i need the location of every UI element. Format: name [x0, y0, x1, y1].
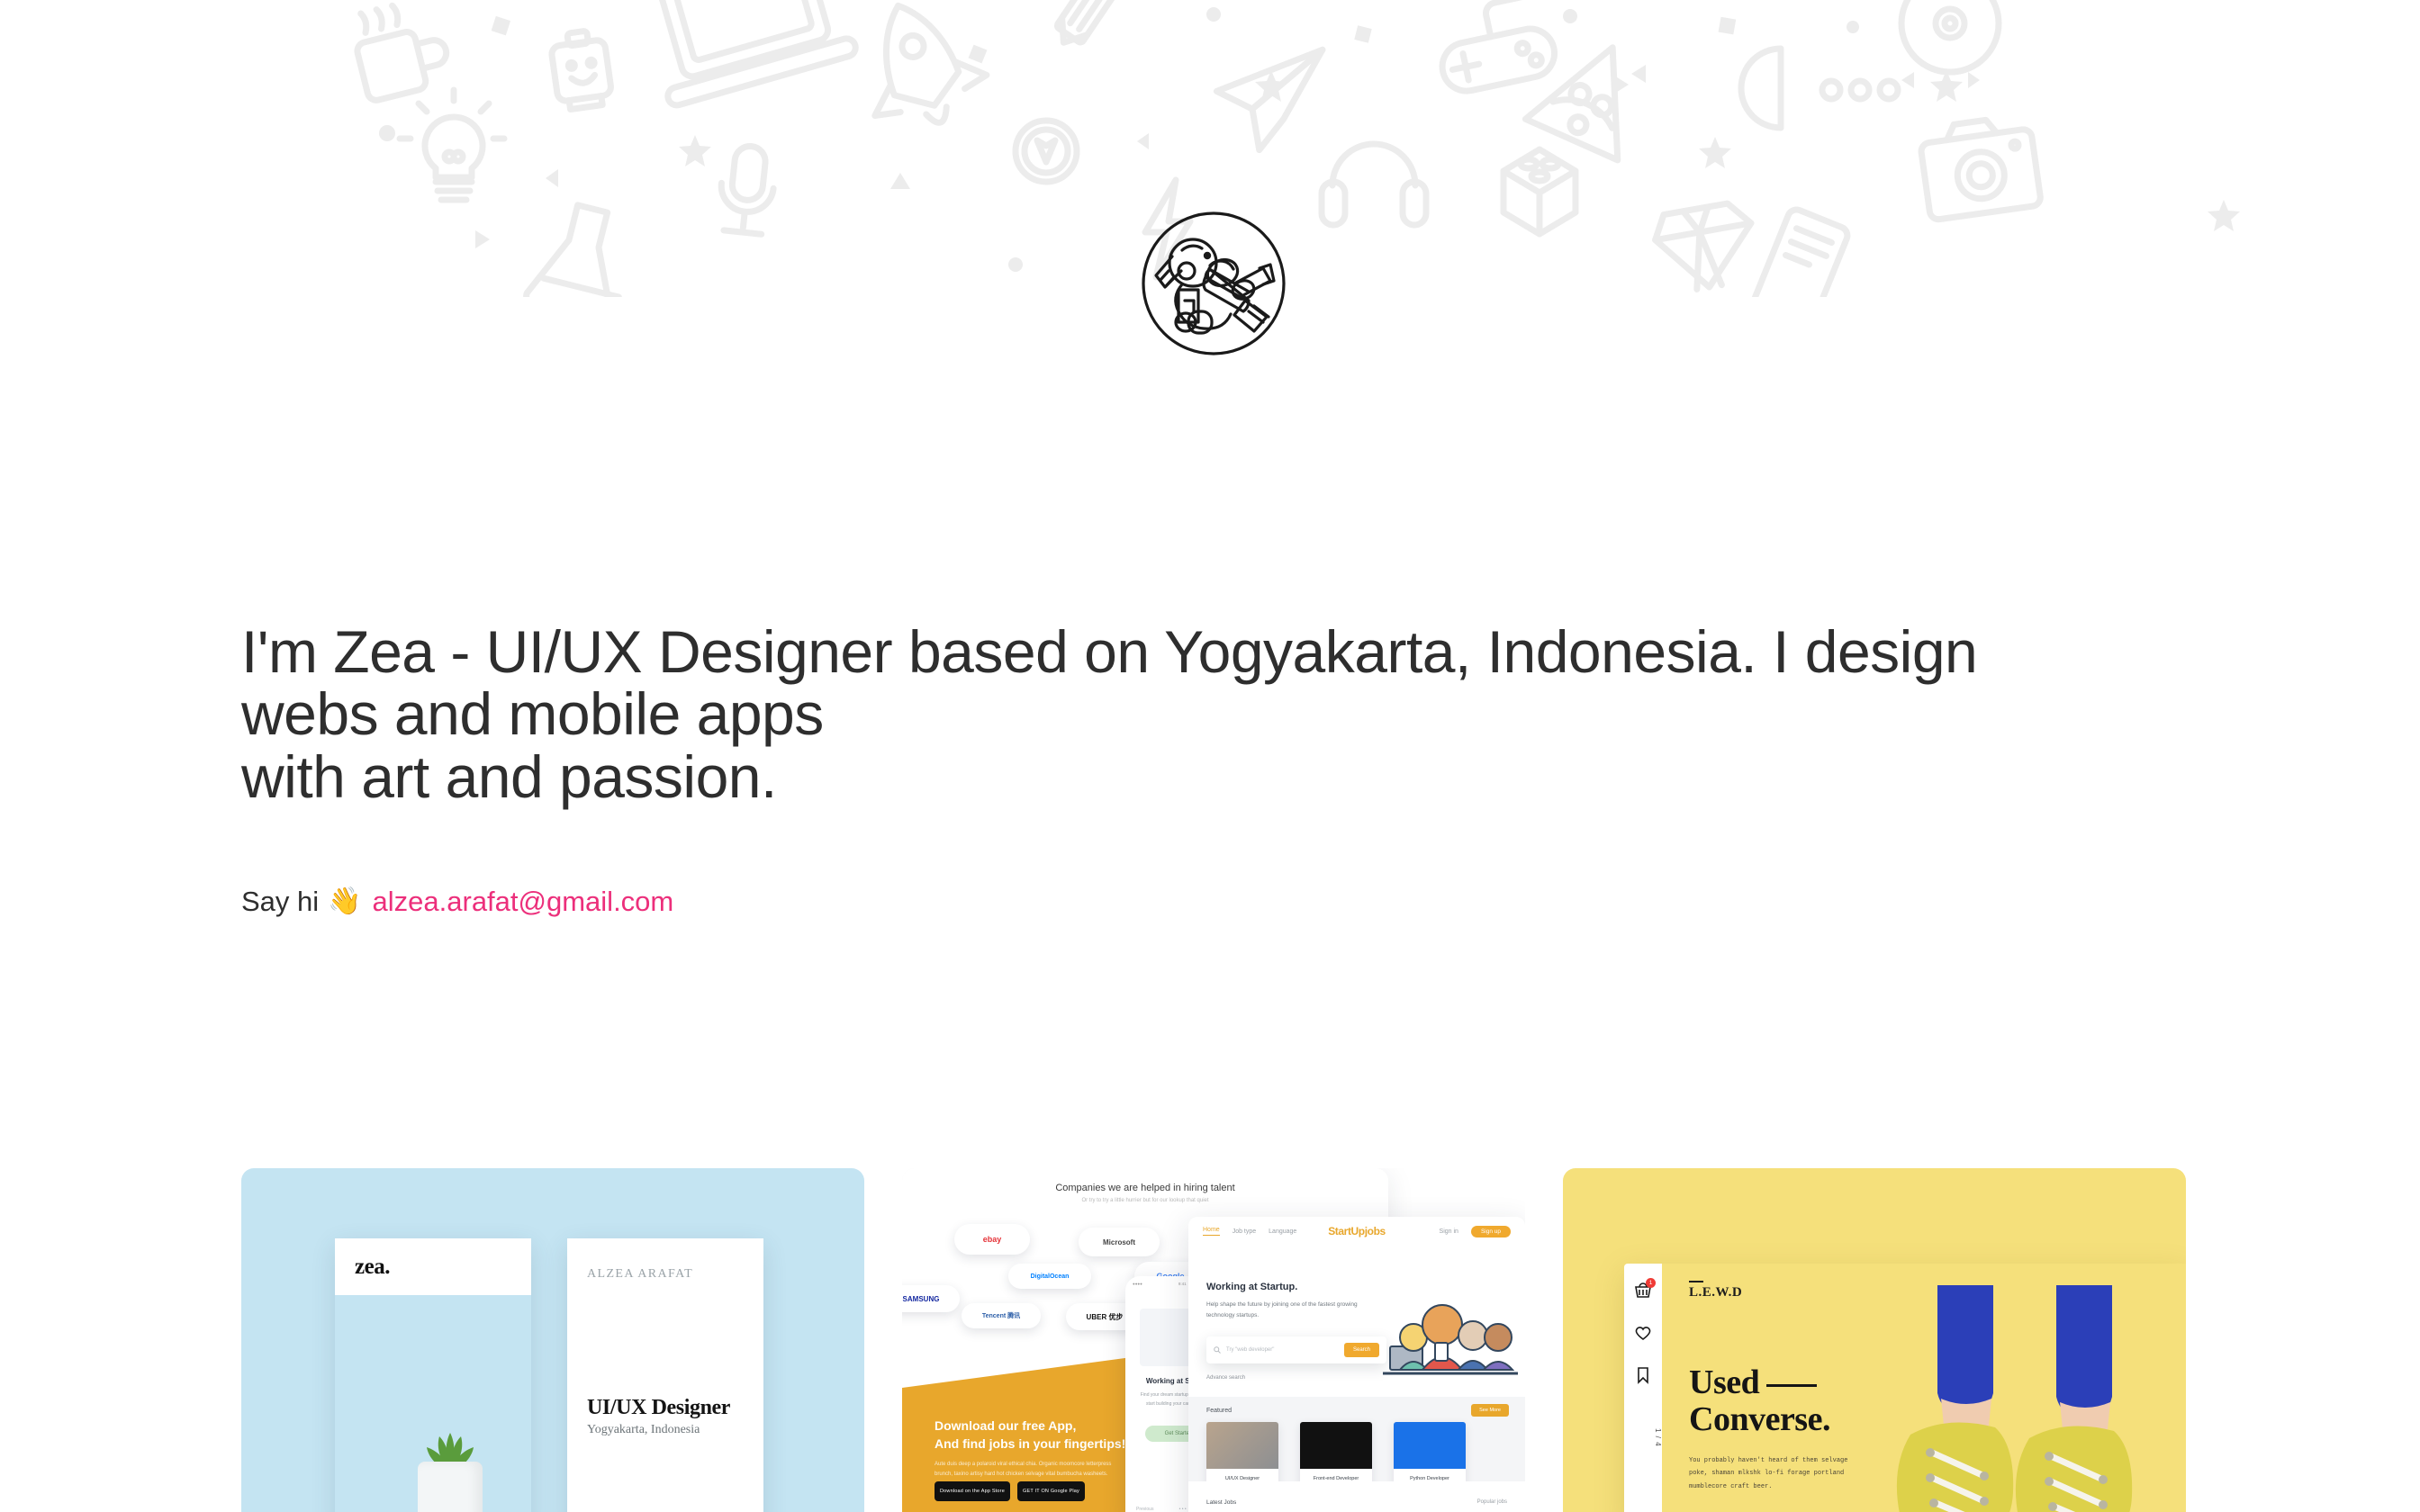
product-headline: Used Converse. — [1689, 1364, 1878, 1438]
shop-side-rail: 1 1 / 4 — [1624, 1264, 1662, 1512]
logo-pill-microsoft: Microsoft — [1079, 1228, 1160, 1256]
smartphone-icon — [1750, 207, 1850, 297]
business-card: ALZEA ARAFAT UI/UX Designer Yogyakarta, … — [567, 1238, 763, 1512]
lightbulb-icon — [400, 90, 504, 200]
nav-job-type[interactable]: Job type — [1233, 1228, 1256, 1235]
nav-sign-in[interactable]: Sign in — [1440, 1228, 1458, 1235]
heart-icon[interactable] — [1634, 1324, 1652, 1342]
business-card-location: Yogyakarta, Indonesia — [587, 1423, 700, 1437]
nav-sign-up-button[interactable]: Sign up — [1471, 1226, 1511, 1237]
shop-browser-frame: 1 1 / 4 L.E.W.D Used Converse. — [1624, 1264, 2186, 1512]
search-placeholder: Try "web developer" — [1226, 1347, 1339, 1353]
front-hero-title: Working at Startup. — [1206, 1282, 1297, 1292]
web-front-page: Home Job type Language Sign in Sign up S… — [1188, 1217, 1525, 1512]
brand-sheet-front: zea. — [335, 1238, 531, 1512]
dot-icon — [379, 7, 1859, 272]
phone-dots: • • • — [1179, 1507, 1187, 1512]
back-page-subtitle: Or try to try a little hurrier but for o… — [902, 1198, 1388, 1203]
astronaut-logo[interactable] — [1130, 200, 1297, 367]
coffee-mug-icon — [348, 0, 454, 102]
promo-body: Aute duis deep a polaroid viral ethical … — [935, 1460, 1115, 1480]
latest-jobs-label: Latest Jobs — [1206, 1499, 1236, 1506]
cart-icon[interactable]: 1 — [1634, 1282, 1652, 1300]
advance-search-toggle[interactable]: Advance search — [1206, 1375, 1245, 1381]
rocket-icon — [843, 0, 997, 143]
product-headline-line2: Converse. — [1689, 1400, 1830, 1438]
search-button[interactable]: Search — [1344, 1343, 1379, 1357]
converse-shop-project-card[interactable]: 1 1 / 4 L.E.W.D Used Converse. — [1563, 1168, 2186, 1512]
pencil-icon — [1051, 0, 1142, 51]
pizza-slice-icon — [1525, 27, 1658, 160]
phone-status-time: 9:41 — [1178, 1282, 1187, 1287]
converse-shoes-photo — [1869, 1285, 2166, 1512]
zea-logo-text: zea. — [355, 1255, 390, 1280]
waving-hand-icon: 👋 — [328, 888, 361, 915]
logo-pill-tencent: Tencent 腾讯 — [962, 1303, 1041, 1328]
star-icon — [679, 70, 2240, 231]
headline-dash — [1766, 1384, 1817, 1387]
bookmark-icon[interactable] — [1634, 1366, 1652, 1384]
latest-jobs-bar: Latest Jobs Popular jobs — [1188, 1481, 1525, 1512]
team-illustration — [1383, 1291, 1518, 1377]
front-hero-body: Help shape the future by joining one of … — [1206, 1300, 1364, 1322]
say-hi-label: Say hi — [241, 886, 319, 918]
popular-jobs-dropdown[interactable]: Popular jobs — [1477, 1499, 1507, 1505]
search-icon — [1214, 1346, 1221, 1354]
phone-status-left: ●●●● — [1133, 1282, 1142, 1287]
job-thumb-1 — [1300, 1422, 1372, 1469]
square-icon — [492, 16, 1737, 63]
cart-count-badge: 1 — [1646, 1278, 1656, 1288]
startupjobs-logo: StartUpjobs — [1328, 1225, 1386, 1237]
flask-icon — [525, 198, 638, 297]
hero-section: I'm Zea - UI/UX Designer based on Yogyak… — [241, 621, 2042, 918]
google-play-badge[interactable]: GET IT ON Google Play — [1017, 1481, 1085, 1501]
back-page-title: Companies we are helped in hiring talent — [902, 1183, 1388, 1193]
business-card-role: UI/UX Designer — [587, 1396, 730, 1420]
plant-pot — [418, 1462, 483, 1512]
lego-head-icon — [549, 29, 613, 112]
projects-row: zea. ALZEA ARAFAT UI/UX Designer Yogyaka… — [241, 1168, 2186, 1512]
job-search-bar[interactable]: Try "web developer" Search — [1206, 1336, 1386, 1363]
nav-home[interactable]: Home — [1203, 1227, 1220, 1236]
contact-line: Say hi 👋 alzea.arafat@gmail.com — [241, 886, 2042, 918]
logo-pill-ebay: ebay — [954, 1224, 1030, 1255]
branding-project-card[interactable]: zea. ALZEA ARAFAT UI/UX Designer Yogyaka… — [241, 1168, 864, 1512]
featured-label: Featured — [1206, 1408, 1232, 1414]
business-card-name: ALZEA ARAFAT — [587, 1267, 693, 1282]
nav-language[interactable]: Language — [1269, 1228, 1296, 1235]
logo-pill-samsung: SAMSUNG — [902, 1285, 960, 1312]
logo-pill-digitalocean: DigitalOcean — [1008, 1264, 1091, 1289]
camera-icon — [1919, 114, 2042, 220]
gamepad-icon — [1431, 0, 1559, 95]
page-title: I'm Zea - UI/UX Designer based on Yogyak… — [241, 621, 2042, 808]
job-thumb-0 — [1206, 1422, 1278, 1469]
microphone-icon — [717, 144, 778, 236]
product-description: You probably haven't heard of them selva… — [1689, 1454, 1856, 1493]
phone-prev[interactable]: Previous — [1136, 1507, 1153, 1512]
lego-brick-icon — [1503, 149, 1576, 234]
product-headline-line1: Used — [1689, 1363, 1759, 1401]
job-thumb-2 — [1394, 1422, 1466, 1469]
compass-icon — [1016, 121, 1077, 182]
paper-plane-icon — [1209, 36, 1323, 157]
see-more-button[interactable]: See More — [1471, 1404, 1509, 1417]
cd-disc-icon — [1901, 0, 1999, 72]
diamond-icon — [1651, 200, 1761, 294]
lewd-brand-logo: L.E.W.D — [1689, 1285, 1742, 1300]
app-store-badge[interactable]: Download on the App Store — [935, 1481, 1010, 1501]
laptop-icon — [637, 0, 858, 107]
pacman-icon — [1741, 49, 1898, 128]
headphones-icon — [1322, 144, 1426, 225]
pagination-indicator: 1 / 4 — [1624, 1428, 1662, 1447]
startupjobs-web-project-card[interactable]: Companies we are helped in hiring talent… — [902, 1168, 1525, 1512]
email-link[interactable]: alzea.arafat@gmail.com — [373, 886, 674, 918]
